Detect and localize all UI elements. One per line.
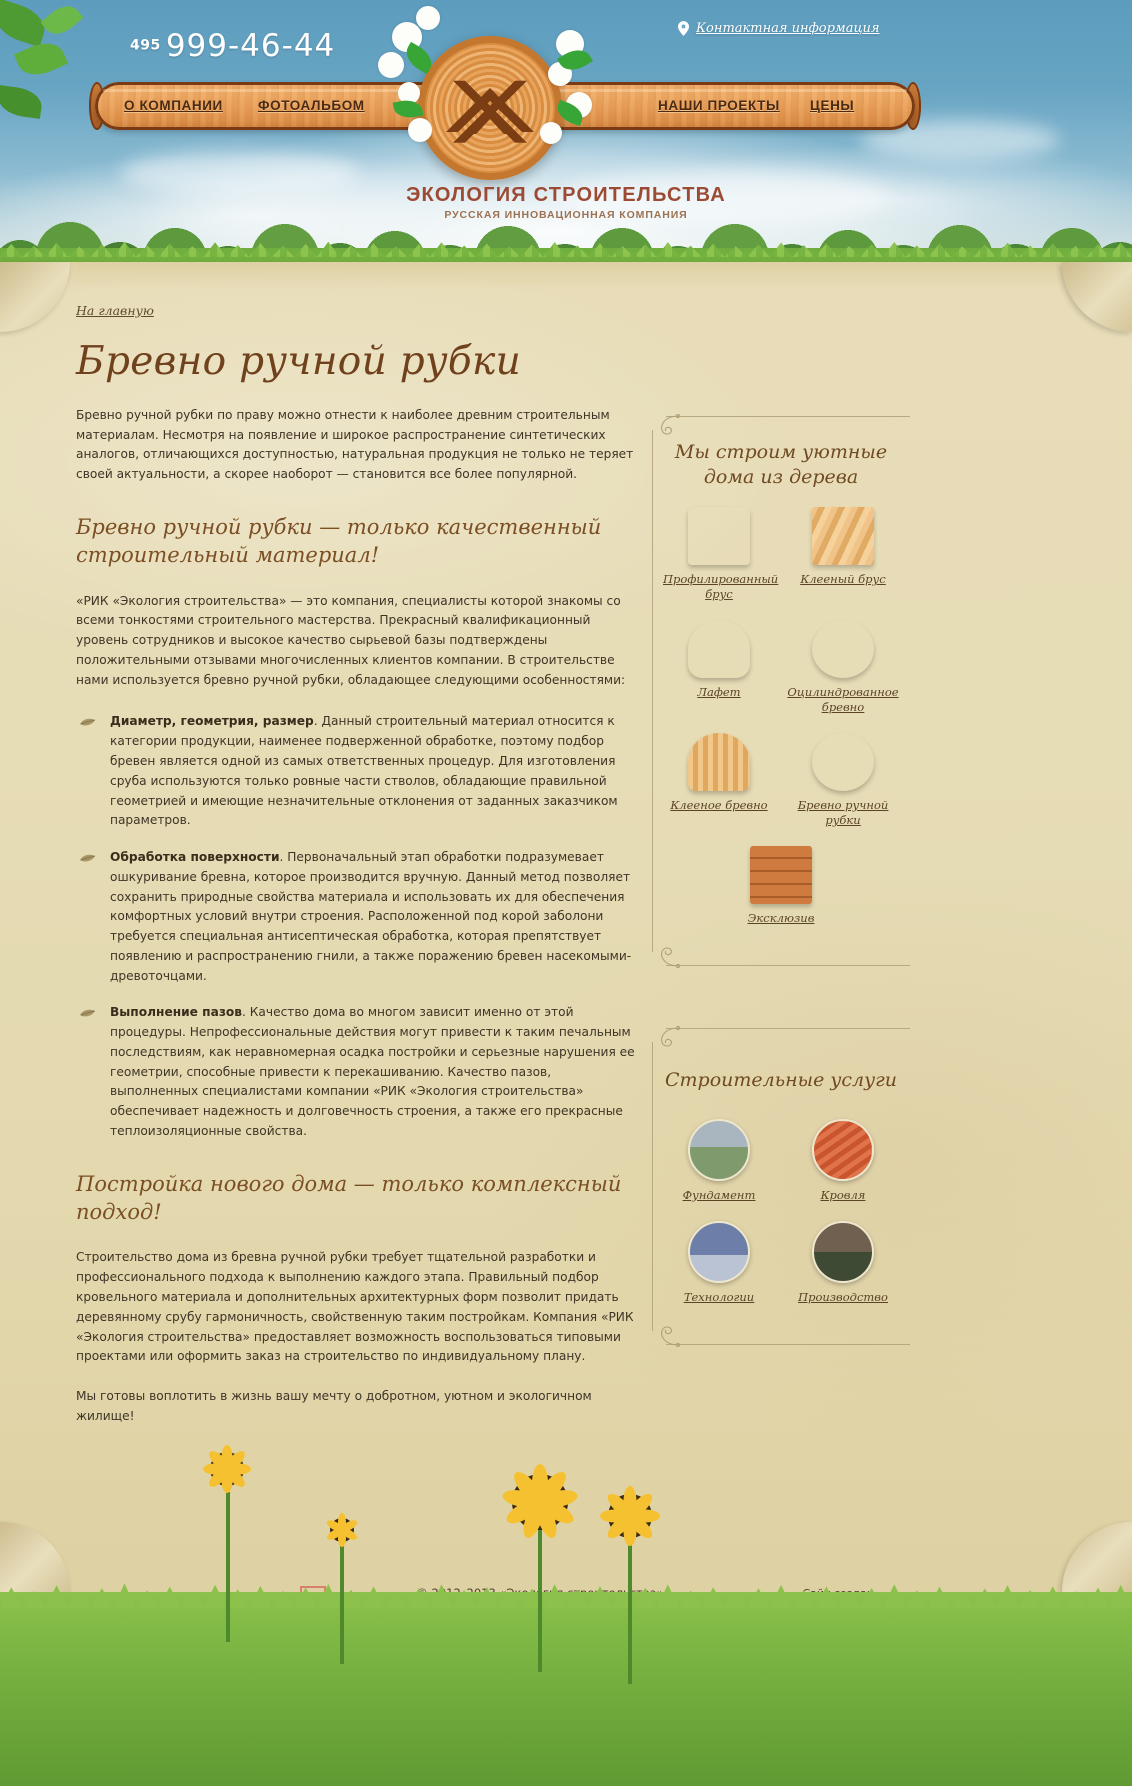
- profiled-beam-icon: [688, 507, 750, 565]
- ornament-corner-icon: [654, 410, 680, 436]
- breadcrumb-home-link[interactable]: На главную: [76, 303, 154, 318]
- sunflower-decoration: [212, 1452, 244, 1486]
- features-list: Диаметр, геометрия, размер. Данный строи…: [76, 712, 636, 1141]
- brick-exclusive-icon: [750, 846, 812, 904]
- page-title: Бревно ручной рубки: [76, 341, 636, 384]
- roof-photo-icon: [812, 1119, 874, 1181]
- material-label: Лафет: [663, 685, 775, 700]
- nav-item-prices[interactable]: ЦЕНЫ: [810, 82, 854, 130]
- site-logo[interactable]: [418, 36, 562, 180]
- feature-text: . Первоначальный этап обработки подразум…: [110, 850, 631, 983]
- blossom-decoration: [416, 6, 440, 30]
- services-panel: Строительные услуги Фундамент Кровля Тех…: [652, 1028, 910, 1345]
- site-title: ЭКОЛОГИЯ СТРОИТЕЛЬСТВА: [0, 184, 1132, 207]
- feature-title: Диаметр, геометрия, размер: [110, 714, 314, 728]
- glued-log-icon: [688, 733, 750, 791]
- paragraph-closing: Мы готовы воплотить в жизнь вашу мечту о…: [76, 1387, 636, 1427]
- sunflower-decoration: [608, 1494, 652, 1538]
- material-card-rounded-log[interactable]: Оцилиндрованное бревно: [787, 620, 899, 715]
- page-root: 495 999-46-44 Контактная информация О КО…: [0, 0, 1132, 1786]
- lafet-log-icon: [688, 620, 750, 678]
- leaf-bullet-icon: [80, 1009, 96, 1018]
- material-card-hand-hewn-log[interactable]: Бревно ручной рубки: [787, 733, 899, 828]
- rounded-log-icon: [812, 620, 874, 678]
- material-label: Эксклюзив: [658, 911, 904, 926]
- feature-item-diameter: Диаметр, геометрия, размер. Данный строи…: [76, 712, 636, 831]
- nav-item-projects[interactable]: НАШИ ПРОЕКТЫ: [658, 82, 780, 130]
- sunflower-stem: [340, 1544, 344, 1664]
- sunflower-head: [210, 1452, 244, 1486]
- material-label: Оцилиндрованное бревно: [787, 685, 899, 715]
- material-card-glued-log[interactable]: Клееное бревно: [663, 733, 775, 828]
- panel-border-left: [652, 1042, 653, 1331]
- hand-hewn-log-icon: [812, 733, 874, 791]
- material-card-exclusive[interactable]: Эксклюзив: [658, 846, 904, 926]
- site-subtitle: РУССКАЯ ИННОВАЦИОННАЯ КОМПАНИЯ: [0, 209, 1132, 221]
- sunflower-head: [608, 1494, 652, 1538]
- material-label: Бревно ручной рубки: [787, 798, 899, 828]
- contact-info-label: Контактная информация: [696, 21, 880, 36]
- production-photo-icon: [812, 1221, 874, 1283]
- sunflower-stem: [538, 1522, 542, 1672]
- service-card-foundation[interactable]: Фундамент: [663, 1119, 775, 1203]
- ornament-corner-icon: [654, 946, 680, 972]
- sunflower-head: [512, 1474, 568, 1530]
- feature-text: . Качество дома во многом зависит именно…: [110, 1005, 635, 1138]
- materials-grid: Профилированный брус Клееный брус Лафет …: [658, 507, 904, 940]
- feature-item-grooves: Выполнение пазов. Качество дома во много…: [76, 1003, 636, 1141]
- paragraph-company: «РИК «Экология строительства» — это комп…: [76, 592, 636, 691]
- ornament-corner-icon: [654, 1022, 680, 1048]
- material-card-profiled-beam[interactable]: Профилированный брус: [663, 507, 775, 602]
- material-label: Клееный брус: [787, 572, 899, 587]
- map-pin-icon: [678, 21, 689, 36]
- phone-number: 495 999-46-44: [130, 28, 335, 64]
- service-card-production[interactable]: Производство: [787, 1221, 899, 1305]
- phone-area-code: 495: [130, 38, 161, 54]
- material-card-lafet[interactable]: Лафет: [663, 620, 775, 715]
- wood-log-arch-logo-icon: [442, 82, 538, 146]
- service-card-roof[interactable]: Кровля: [787, 1119, 899, 1203]
- sunflower-stem: [226, 1492, 230, 1642]
- feature-text: . Данный строительный материал относится…: [110, 714, 618, 827]
- bottom-grass: [0, 1592, 1132, 1786]
- sunflower-head: [330, 1518, 354, 1542]
- glued-beam-icon: [812, 507, 874, 565]
- sidebar-materials: Мы строим уютные дома из дерева Профилир…: [652, 416, 910, 966]
- service-card-technology[interactable]: Технологии: [663, 1221, 775, 1305]
- technology-photo-icon: [688, 1221, 750, 1283]
- intro-paragraph: Бревно ручной рубки по праву можно отнес…: [76, 406, 636, 485]
- material-card-glued-beam[interactable]: Клееный брус: [787, 507, 899, 602]
- blossom-decoration: [540, 122, 562, 144]
- main-content: На главную Бревно ручной рубки Бревно ру…: [76, 300, 636, 1427]
- panel-border-bottom: [666, 1344, 910, 1345]
- materials-panel: Мы строим уютные дома из дерева Профилир…: [652, 416, 910, 966]
- material-label: Клееное бревно: [663, 798, 775, 813]
- sunflower-decoration: [512, 1474, 568, 1530]
- nav-item-about[interactable]: О КОМПАНИИ: [124, 82, 223, 130]
- leaf-bullet-icon: [80, 854, 96, 863]
- panel-border-top: [666, 416, 910, 417]
- services-heading: Строительные услуги: [658, 1068, 904, 1093]
- material-label: Профилированный брус: [663, 572, 775, 602]
- materials-heading: Мы строим уютные дома из дерева: [658, 440, 904, 489]
- phone-digits: 999-46-44: [166, 28, 335, 64]
- paragraph-construction: Строительство дома из бревна ручной рубк…: [76, 1248, 636, 1367]
- service-label: Технологии: [663, 1290, 775, 1305]
- service-label: Кровля: [787, 1188, 899, 1203]
- nav-item-photo[interactable]: ФОТОАЛЬБОМ: [258, 82, 365, 130]
- sunflower-stem: [628, 1534, 632, 1684]
- leaf-bullet-icon: [80, 718, 96, 727]
- sunflower-decoration: [330, 1518, 354, 1542]
- ornament-corner-icon: [654, 1325, 680, 1351]
- section-heading-quality: Бревно ручной рубки — только качественны…: [76, 513, 636, 570]
- services-grid: Фундамент Кровля Технологии Производство: [658, 1119, 904, 1319]
- feature-title: Выполнение пазов: [110, 1005, 242, 1019]
- panel-border-left: [652, 430, 653, 952]
- contact-info-link[interactable]: Контактная информация: [678, 21, 880, 36]
- service-label: Фундамент: [663, 1188, 775, 1203]
- feature-item-surface: Обработка поверхности. Первоначальный эт…: [76, 848, 636, 986]
- blossom-decoration: [408, 118, 432, 142]
- foundation-photo-icon: [688, 1119, 750, 1181]
- panel-border-top: [666, 1028, 910, 1029]
- service-label: Производство: [787, 1290, 899, 1305]
- feature-title: Обработка поверхности: [110, 850, 279, 864]
- sidebar-services: Строительные услуги Фундамент Кровля Тех…: [652, 1028, 910, 1345]
- blossom-decoration: [378, 52, 404, 78]
- panel-border-bottom: [666, 965, 910, 966]
- section-heading-approach: Постройка нового дома — только комплексн…: [76, 1170, 636, 1227]
